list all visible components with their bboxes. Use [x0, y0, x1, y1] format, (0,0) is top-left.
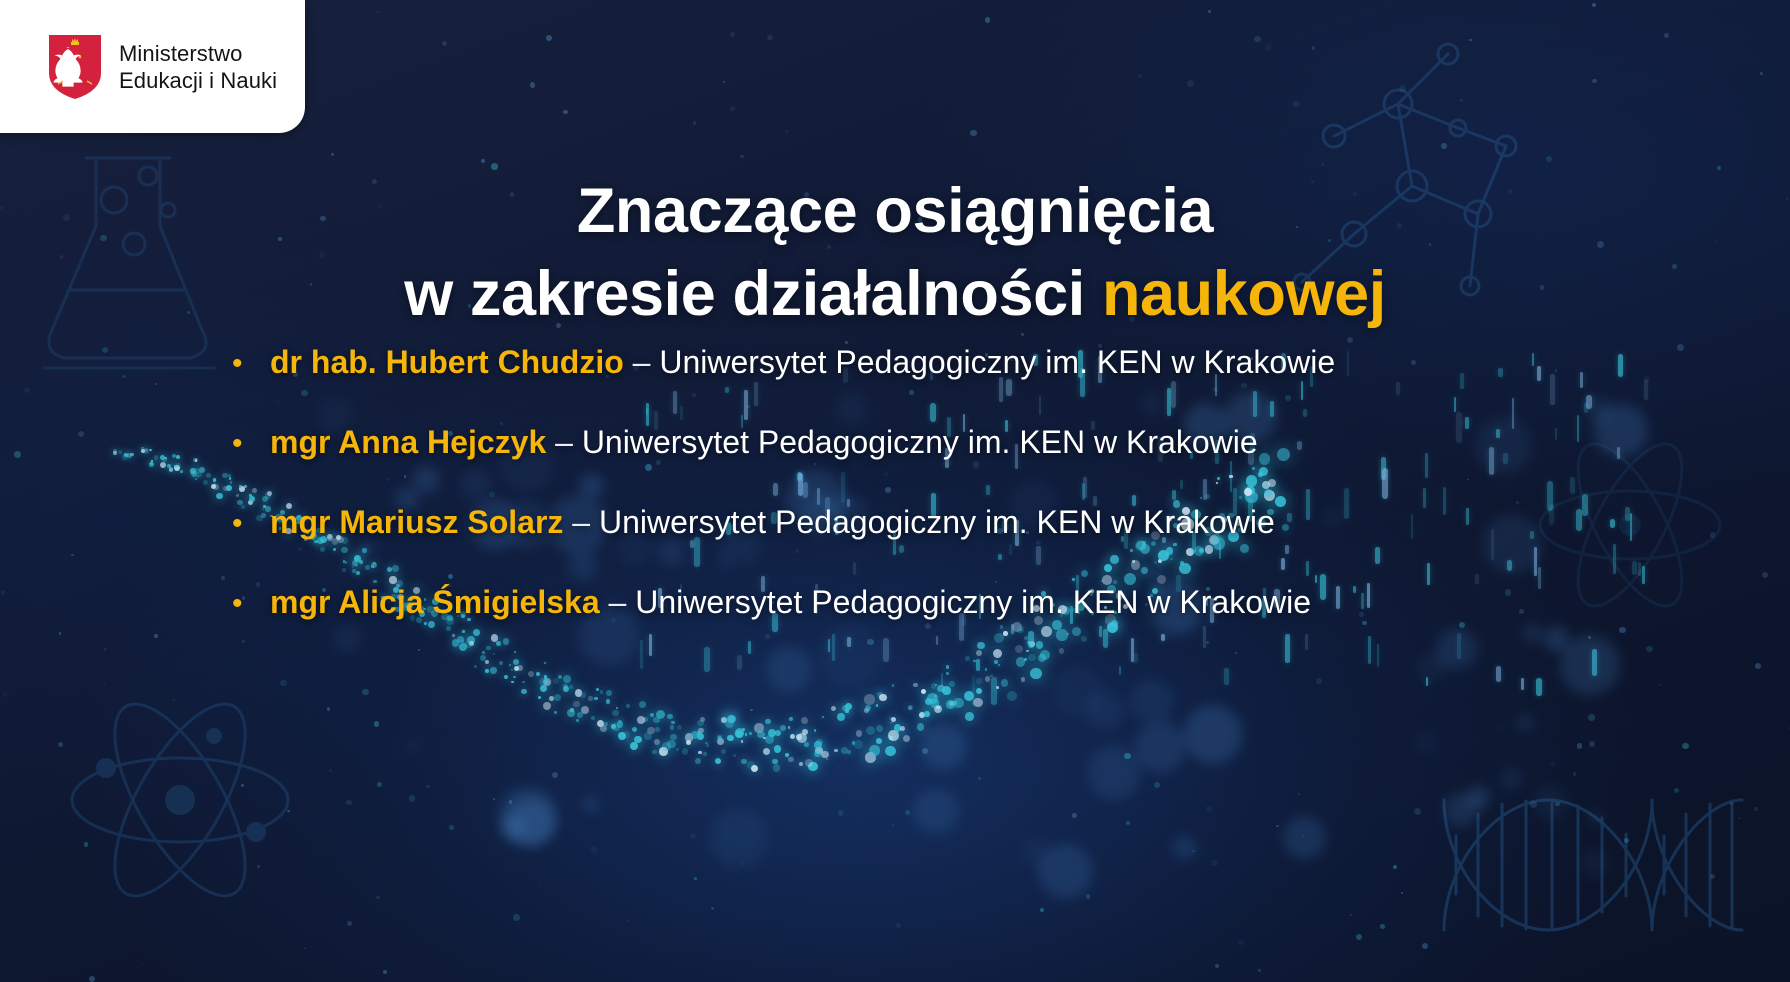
list-item: • mgr Alicja Śmigielska – Uniwersytet Pe…: [232, 582, 1692, 662]
list-item: • mgr Anna Hejczyk – Uniwersytet Pedagog…: [232, 422, 1692, 502]
atom-icon: [60, 690, 300, 910]
bullet-marker-icon: •: [232, 509, 270, 539]
bullet-marker-icon: •: [232, 589, 270, 619]
separator-dash: –: [546, 424, 582, 460]
list-item-body: dr hab. Hubert Chudzio – Uniwersytet Ped…: [270, 342, 1335, 382]
separator-dash: –: [563, 504, 599, 540]
affiliation: Uniwersytet Pedagogiczny im. KEN w Krako…: [599, 504, 1275, 540]
person-name: dr hab. Hubert Chudzio: [270, 344, 624, 380]
list-item: • mgr Mariusz Solarz – Uniwersytet Pedag…: [232, 502, 1692, 582]
list-item-body: mgr Alicja Śmigielska – Uniwersytet Peda…: [270, 582, 1311, 622]
title-line-2-accent: naukowej: [1102, 259, 1386, 329]
affiliation: Uniwersytet Pedagogiczny im. KEN w Krako…: [582, 424, 1258, 460]
achievements-list: • dr hab. Hubert Chudzio – Uniwersytet P…: [232, 342, 1692, 662]
bullet-marker-icon: •: [232, 429, 270, 459]
ministry-logo-card: Ministerstwo Edukacji i Nauki: [0, 0, 305, 133]
list-item-body: mgr Anna Hejczyk – Uniwersytet Pedagogic…: [270, 422, 1258, 462]
separator-dash: –: [624, 344, 660, 380]
bullet-marker-icon: •: [232, 349, 270, 379]
affiliation: Uniwersytet Pedagogiczny im. KEN w Krako…: [635, 584, 1311, 620]
list-item-body: mgr Mariusz Solarz – Uniwersytet Pedagog…: [270, 502, 1275, 542]
person-name: mgr Alicja Śmigielska: [270, 584, 600, 620]
ministry-logo-text: Ministerstwo Edukacji i Nauki: [119, 40, 277, 94]
polish-coat-of-arms-icon: [47, 33, 103, 101]
dna-helix-icon: [1430, 770, 1750, 960]
title-line-2-prefix: w zakresie działalności: [404, 259, 1102, 329]
person-name: mgr Anna Hejczyk: [270, 424, 546, 460]
separator-dash: –: [600, 584, 636, 620]
page-title: Znaczące osiągnięcia w zakresie działaln…: [0, 170, 1790, 336]
title-line-1: Znaczące osiągnięcia: [577, 176, 1213, 246]
person-name: mgr Mariusz Solarz: [270, 504, 563, 540]
affiliation: Uniwersytet Pedagogiczny im. KEN w Krako…: [659, 344, 1335, 380]
list-item: • dr hab. Hubert Chudzio – Uniwersytet P…: [232, 342, 1692, 422]
presentation-slide: Ministerstwo Edukacji i Nauki Znaczące o…: [0, 0, 1790, 982]
